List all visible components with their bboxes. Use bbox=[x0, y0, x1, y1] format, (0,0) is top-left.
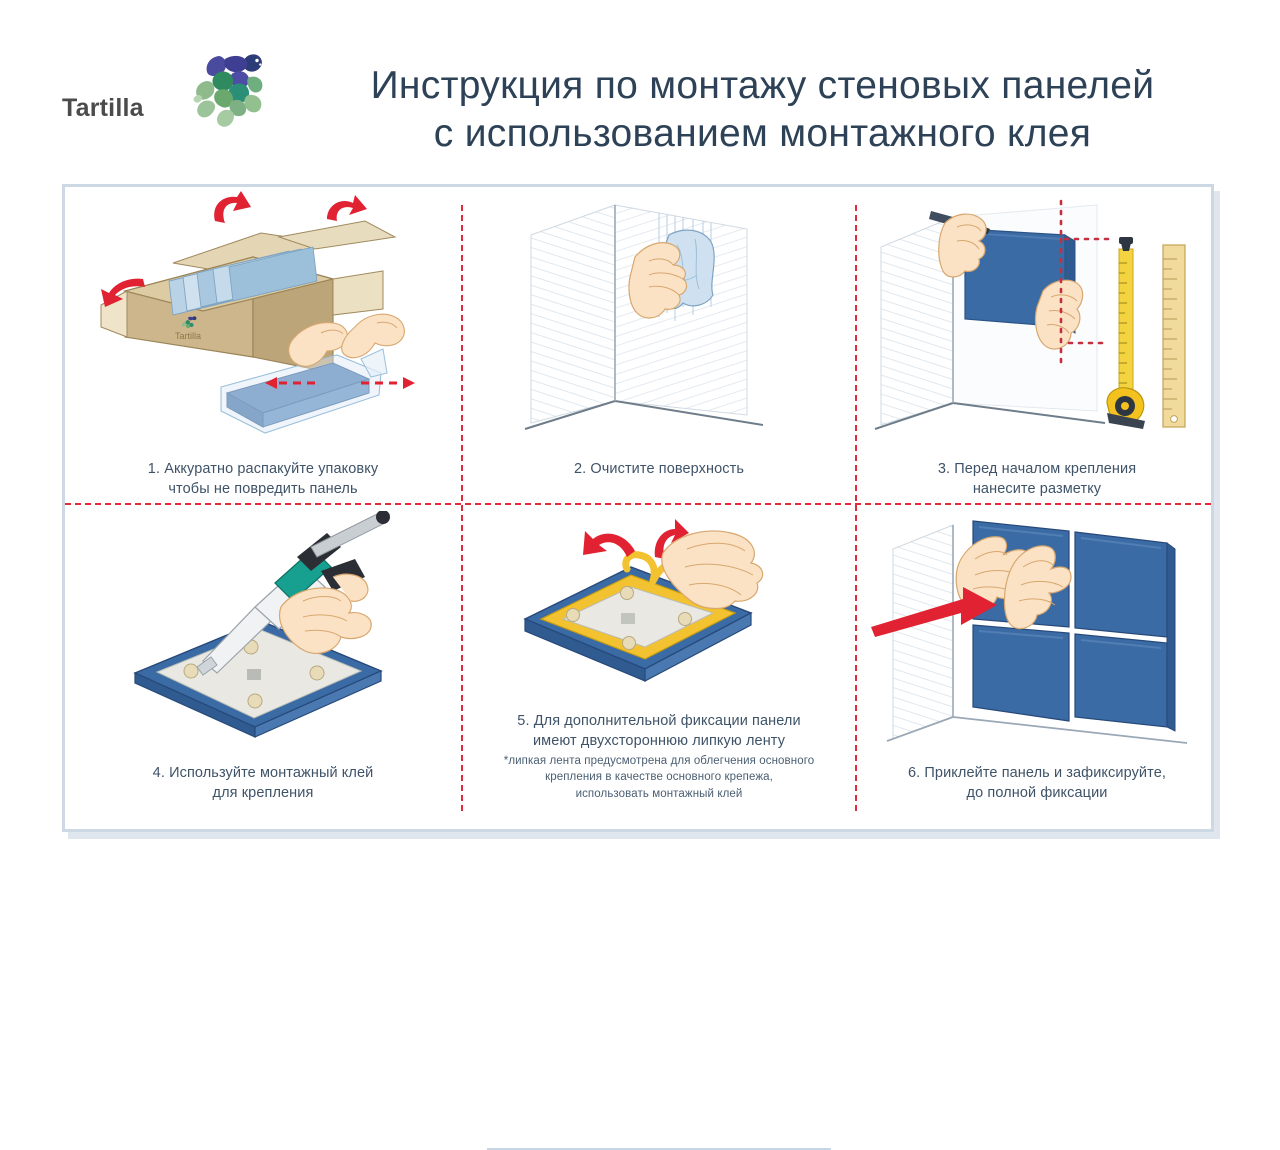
turtle-logo-icon bbox=[192, 48, 268, 132]
hand-with-pencil-marking-wall-tape-measure-ruler-icon bbox=[857, 187, 1217, 447]
step-5-caption-line-2: имеют двухстороннюю липкую ленту bbox=[469, 731, 849, 751]
step-4-caption: 4. Используйте монтажный клей для крепле… bbox=[71, 763, 455, 803]
step-6: 6. Приклейте панель и зафиксируйте, до п… bbox=[857, 505, 1217, 835]
poster-header: Tartilla bbox=[0, 0, 1280, 180]
step-1-caption-line-2: чтобы не повредить панель bbox=[71, 479, 455, 499]
step-4: 4. Используйте монтажный клей для крепле… bbox=[65, 505, 461, 835]
step-5-note: *липкая лента предусмотрена для облегчен… bbox=[469, 753, 849, 802]
instruction-poster: Tartilla bbox=[0, 0, 1280, 856]
step-5: 5. Для дополнительной фиксации панели им… bbox=[463, 505, 855, 835]
two-hands-pressing-panels-on-wall-icon bbox=[857, 505, 1217, 757]
step-5-note-line-1: *липкая лента предусмотрена для облегчен… bbox=[469, 753, 849, 769]
step-5-caption-line-1: 5. Для дополнительной фиксации панели bbox=[469, 711, 849, 731]
steps-grid: Tartilla bbox=[65, 187, 1211, 829]
step-2-caption-line-1: 2. Очистите поверхность bbox=[469, 459, 849, 479]
step-3-caption: 3. Перед началом крепления нанесите разм… bbox=[863, 459, 1211, 499]
step-4-caption-line-1: 4. Используйте монтажный клей bbox=[71, 763, 455, 783]
hand-with-cloth-cleaning-wall-icon bbox=[463, 187, 855, 447]
step-1-caption-line-1: 1. Аккуратно распакуйте упаковку bbox=[71, 459, 455, 479]
step-1: Tartilla bbox=[65, 187, 461, 503]
step-3-caption-line-1: 3. Перед началом крепления bbox=[863, 459, 1211, 479]
svg-text:Tartilla: Tartilla bbox=[175, 331, 201, 341]
brand-name: Tartilla bbox=[62, 94, 192, 123]
step-1-caption: 1. Аккуратно распакуйте упаковку чтобы н… bbox=[71, 459, 455, 499]
step-5-note-line-2: крепления в качестве основного крепежа, bbox=[469, 769, 849, 785]
step-5-note-line-3: использовать монтажный клей bbox=[469, 786, 849, 802]
hand-peeling-double-sided-tape-icon bbox=[463, 509, 855, 705]
hand-with-caulking-gun-applying-glue-icon bbox=[65, 511, 461, 751]
step-6-caption-line-2: до полной фиксации bbox=[863, 783, 1211, 803]
step-2: 2. Очистите поверхность bbox=[463, 187, 855, 503]
step-5-caption: 5. Для дополнительной фиксации панели им… bbox=[469, 711, 849, 751]
step-3-caption-line-2: нанесите разметку bbox=[863, 479, 1211, 499]
step-4-caption-line-2: для крепления bbox=[71, 783, 455, 803]
step-6-caption-line-1: 6. Приклейте панель и зафиксируйте, bbox=[863, 763, 1211, 783]
page-title: Инструкция по монтажу стеновых панелей с… bbox=[290, 62, 1235, 157]
step-3: 3. Перед началом крепления нанесите разм… bbox=[857, 187, 1217, 503]
step-2-caption: 2. Очистите поверхность bbox=[469, 459, 849, 479]
steps-frame: Tartilla bbox=[62, 184, 1214, 832]
title-line-1: Инструкция по монтажу стеновых панелей bbox=[371, 64, 1155, 107]
title-line-2: с использованием монтажного клея bbox=[290, 110, 1235, 158]
step-6-caption: 6. Приклейте панель и зафиксируйте, до п… bbox=[863, 763, 1211, 803]
cardboard-box-with-panels-and-hands-icon: Tartilla bbox=[65, 187, 461, 437]
